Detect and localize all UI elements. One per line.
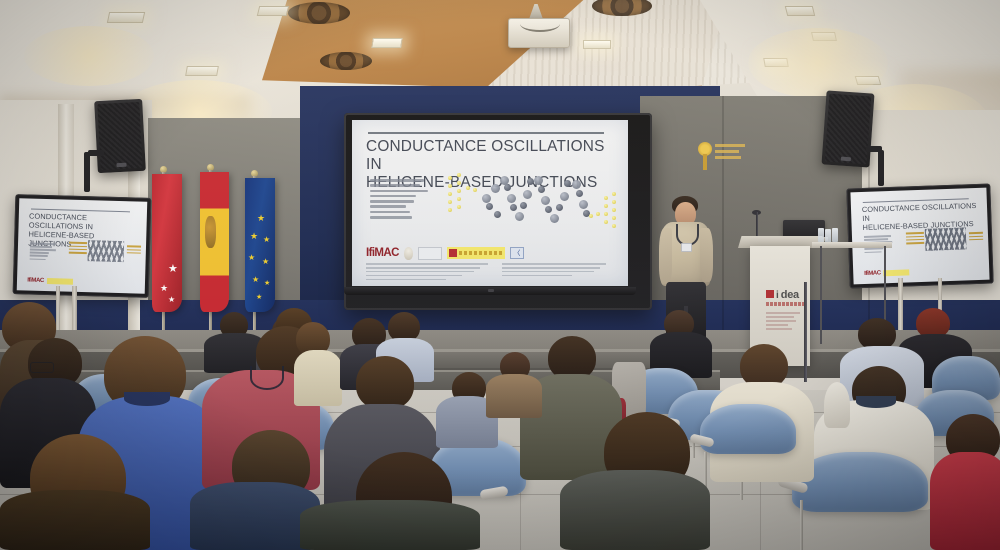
recessed-light xyxy=(785,6,815,16)
head xyxy=(356,356,414,410)
gold-atom xyxy=(596,212,600,216)
flag-mark-icon xyxy=(449,249,457,257)
imdea-logo-text: dea xyxy=(781,291,799,300)
torso xyxy=(486,374,542,418)
gold-atom xyxy=(448,176,452,180)
molecule-ring xyxy=(482,194,491,203)
imdea-red-square-icon xyxy=(766,290,774,298)
lectern-support-pole xyxy=(804,282,807,382)
conference-room-photo: CONDUCTANCE OSCILLATIONS IN HELICENE-BAS… xyxy=(0,0,1000,550)
monitor-screen: CONDUCTANCE OSCILLATIONS IN HELICENE-BAS… xyxy=(17,198,148,294)
molecule-ring xyxy=(527,178,534,185)
funding-logo-yellow xyxy=(47,278,73,285)
gold-atom xyxy=(612,224,616,228)
imdea-subtitle xyxy=(766,302,806,306)
eu-funding-logo: 〈 xyxy=(510,247,524,259)
uam-logo xyxy=(404,247,413,260)
gold-atom xyxy=(448,208,452,212)
flag-cloth xyxy=(245,178,275,312)
chair-leg xyxy=(800,500,803,550)
logo-bars xyxy=(459,251,503,255)
gold-atom xyxy=(612,216,616,220)
molecule-ring xyxy=(560,192,569,201)
microphone-stem xyxy=(756,212,758,238)
light-glow xyxy=(24,26,154,86)
gold-atom xyxy=(604,220,608,224)
speaker-badge xyxy=(116,163,126,168)
speaker-badge xyxy=(841,157,851,162)
gold-atom xyxy=(466,186,470,190)
star-icon: ★ xyxy=(250,232,258,241)
molecule-ring xyxy=(541,196,550,205)
molecule-ring xyxy=(576,190,583,197)
coat-of-arms-icon xyxy=(205,216,216,248)
emblem-icon xyxy=(698,142,712,170)
gold-atom xyxy=(589,214,593,218)
torso xyxy=(294,350,342,406)
monitor-author-list xyxy=(29,243,58,262)
chair[interactable] xyxy=(700,404,796,454)
funding-logo-yellow xyxy=(884,269,910,276)
gold-atom xyxy=(612,192,616,196)
speaker-bracket xyxy=(878,150,884,186)
molecule-ring xyxy=(515,212,524,221)
torso xyxy=(930,452,1000,550)
star-icon: ★ xyxy=(256,294,262,301)
collar xyxy=(124,392,170,406)
slide-author-list xyxy=(370,179,430,221)
speaker-bracket xyxy=(88,150,104,156)
ministry-logo xyxy=(418,247,442,260)
star-icon: ★ xyxy=(160,284,168,293)
conference-badge xyxy=(681,243,692,252)
air-diffuser-icon xyxy=(320,52,372,70)
molecular-junction-figure xyxy=(448,170,616,234)
molecule-ring xyxy=(491,184,500,193)
monitor-electrode-right xyxy=(969,232,983,243)
projector-cable xyxy=(520,16,560,32)
torso xyxy=(0,490,150,550)
speaker-grille xyxy=(97,102,142,170)
lanyard xyxy=(250,366,284,390)
molecule-ring xyxy=(534,176,543,185)
molecule-ring xyxy=(579,200,588,209)
star-icon: ★ xyxy=(262,258,269,266)
lectern-text-block xyxy=(766,312,804,332)
table-leg xyxy=(820,246,822,344)
imdea-logo-mark: i xyxy=(776,291,779,300)
monitor-logo-row: IfiMAC xyxy=(27,277,73,284)
presenter-arm-left xyxy=(659,228,672,284)
recessed-light xyxy=(583,40,611,49)
presenter-arm-right xyxy=(700,228,713,282)
ifimac-logo: IfiMAC xyxy=(366,248,399,259)
molecule-ring xyxy=(504,184,511,191)
light-glow xyxy=(748,28,888,98)
torso xyxy=(300,500,480,550)
slide-logo-row: IfiMAC 〈 xyxy=(366,244,616,262)
star-icon: ★ xyxy=(257,214,265,223)
gold-atom xyxy=(457,173,461,177)
molecule-ring xyxy=(510,204,517,211)
gold-atom xyxy=(604,212,608,216)
star-icon: ★ xyxy=(263,236,270,244)
gold-atom xyxy=(612,200,616,204)
speaker-bracket xyxy=(84,152,90,192)
gold-atom xyxy=(448,184,452,188)
slide-title-line1: CONDUCTANCE OSCILLATIONS IN xyxy=(366,138,616,174)
ifimac-logo: IfiMAC xyxy=(864,270,881,277)
gold-atom xyxy=(612,208,616,212)
water-bottle xyxy=(825,229,831,243)
star-icon: ★ xyxy=(252,276,259,284)
recessed-light xyxy=(107,12,145,23)
monitor-electrode-right xyxy=(127,245,141,256)
slide-content: CONDUCTANCE OSCILLATIONS IN HELICENE-BAS… xyxy=(352,120,628,286)
gold-atom xyxy=(448,200,452,204)
slide-divider xyxy=(368,132,604,134)
gold-atom xyxy=(457,181,461,185)
monitor-electrode-left xyxy=(69,242,87,256)
gold-atom xyxy=(457,197,461,201)
water-bottles xyxy=(818,228,842,242)
molecule-ring xyxy=(538,186,545,193)
funding-logo-yellow xyxy=(447,247,505,259)
molecule-ring xyxy=(564,180,571,187)
water-bottle xyxy=(818,228,824,242)
ifimac-logo: IfiMAC xyxy=(27,277,44,283)
star-icon: ★ xyxy=(264,280,270,287)
gold-atom xyxy=(457,189,461,193)
molecule-ring xyxy=(572,180,581,189)
monitor-screen: CONDUCTANCE OSCILLATIONS IN HELICENE-BAS… xyxy=(850,188,989,285)
recessed-light xyxy=(371,38,402,48)
plaque-text xyxy=(715,144,745,162)
slide-footnotes-right xyxy=(502,263,612,279)
star-icon: ★ xyxy=(248,254,255,262)
recessed-light xyxy=(257,6,289,16)
gold-atom xyxy=(457,205,461,209)
monitor-electrode-left xyxy=(906,232,924,246)
monitor-molecule-figure xyxy=(88,241,124,262)
water-bottle xyxy=(832,228,838,242)
molecule-ring xyxy=(550,214,559,223)
speaker-grille xyxy=(825,94,872,165)
recessed-light xyxy=(185,66,219,76)
star-icon: ★ xyxy=(168,296,175,304)
display-power-indicator xyxy=(488,289,494,292)
wall-plaque xyxy=(694,136,752,176)
gold-atom xyxy=(448,192,452,196)
molecule-ring xyxy=(523,190,532,199)
molecule-ring xyxy=(545,206,552,213)
molecule-ring xyxy=(486,203,493,210)
gold-atom xyxy=(604,204,608,208)
arm-raised xyxy=(824,382,850,428)
air-diffuser-icon xyxy=(288,2,350,24)
molecule-ring xyxy=(520,202,527,209)
imdea-logo: i dea xyxy=(766,290,799,300)
table-top xyxy=(812,242,892,248)
monitor-logo-row: IfiMAC xyxy=(864,269,910,277)
collar xyxy=(856,396,896,408)
monitor-molecule-figure xyxy=(925,227,967,250)
gold-atom xyxy=(473,188,477,192)
star-icon: ★ xyxy=(168,264,178,275)
molecule-ring xyxy=(494,211,501,218)
wall-seam xyxy=(722,96,724,336)
glasses-icon xyxy=(30,362,54,373)
gold-atom xyxy=(604,196,608,200)
molecule-ring xyxy=(507,194,516,203)
torso xyxy=(560,470,710,550)
molecule-ring xyxy=(556,204,563,211)
